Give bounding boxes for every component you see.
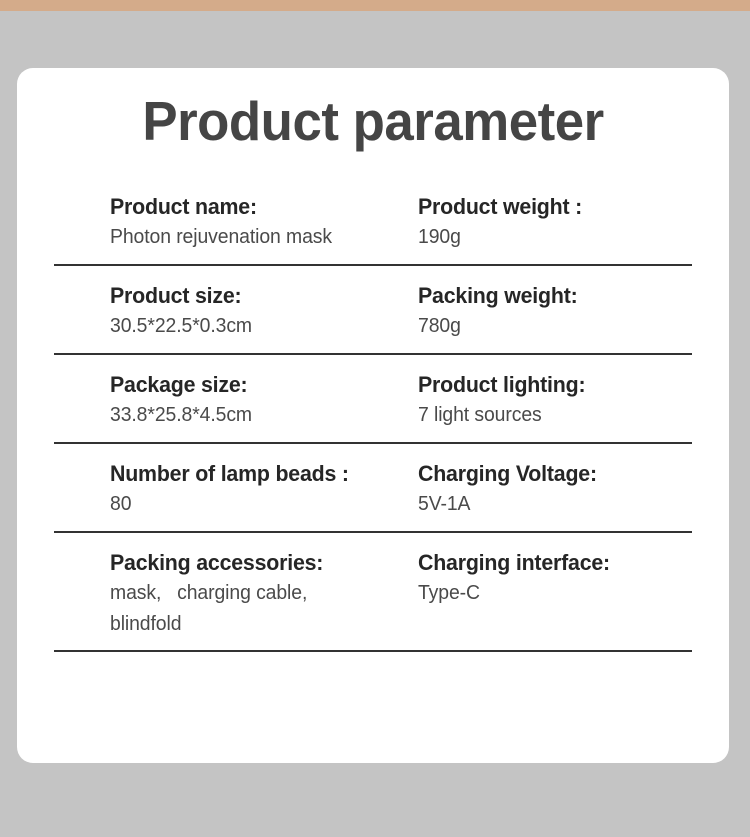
spec-value: 80 — [110, 489, 378, 520]
spec-cell-packing-weight: Packing weight: 780g — [386, 281, 692, 342]
spec-value: 5V-1A — [418, 489, 684, 520]
spec-cell-product-weight: Product weight : 190g — [386, 192, 692, 253]
top-accent-strip — [0, 0, 750, 11]
spec-label: Product size: — [110, 281, 378, 311]
spec-cell-product-lighting: Product lighting: 7 light sources — [386, 370, 692, 431]
spec-cell-charging-interface: Charging interface: Type-C — [386, 548, 692, 609]
spec-value: Type-C — [418, 578, 684, 609]
product-parameter-card: Product parameter Product name: Photon r… — [17, 68, 729, 763]
table-row: Package size: 33.8*25.8*4.5cm Product li… — [54, 355, 692, 444]
spec-value: 7 light sources — [418, 400, 684, 431]
spec-label: Package size: — [110, 370, 378, 400]
spec-value: 33.8*25.8*4.5cm — [110, 400, 378, 431]
spec-label: Charging interface: — [418, 548, 684, 578]
spec-cell-charging-voltage: Charging Voltage: 5V-1A — [386, 459, 692, 520]
spec-label: Product name: — [110, 192, 378, 222]
table-row: Number of lamp beads : 80 Charging Volta… — [54, 444, 692, 533]
spec-cell-packing-accessories: Packing accessories: mask, charging cabl… — [54, 548, 386, 640]
spec-label: Charging Voltage: — [418, 459, 684, 489]
specification-table: Product name: Photon rejuvenation mask P… — [54, 177, 692, 652]
table-row: Packing accessories: mask, charging cabl… — [54, 533, 692, 652]
spec-cell-package-size: Package size: 33.8*25.8*4.5cm — [54, 370, 386, 431]
spec-cell-product-name: Product name: Photon rejuvenation mask — [54, 192, 386, 253]
table-row: Product size: 30.5*22.5*0.3cm Packing we… — [54, 266, 692, 355]
spec-label: Product lighting: — [418, 370, 684, 400]
spec-label: Product weight : — [418, 192, 684, 222]
table-row: Product name: Photon rejuvenation mask P… — [54, 177, 692, 266]
spec-label: Packing accessories: — [110, 548, 378, 578]
spec-cell-number-of-lamp-beads: Number of lamp beads : 80 — [54, 459, 386, 520]
spec-value: Photon rejuvenation mask — [110, 222, 378, 253]
spec-value: mask, charging cable, blindfold — [110, 578, 378, 640]
spec-value: 190g — [418, 222, 684, 253]
spec-cell-product-size: Product size: 30.5*22.5*0.3cm — [54, 281, 386, 342]
spec-value: 780g — [418, 311, 684, 342]
page-title: Product parameter — [31, 90, 715, 152]
spec-label: Number of lamp beads : — [110, 459, 378, 489]
spec-value: 30.5*22.5*0.3cm — [110, 311, 378, 342]
spec-label: Packing weight: — [418, 281, 684, 311]
